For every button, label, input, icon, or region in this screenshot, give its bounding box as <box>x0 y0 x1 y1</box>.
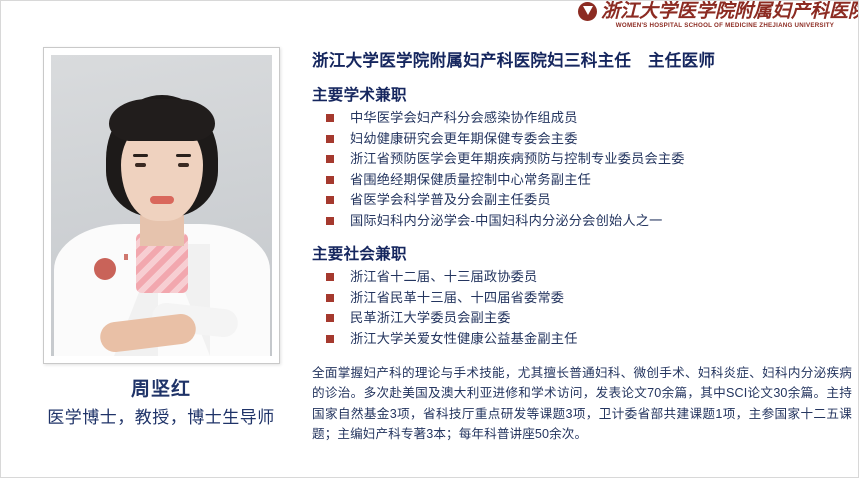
bullet-square-icon <box>326 176 334 184</box>
bullet-square-icon <box>326 135 334 143</box>
doctor-photo <box>51 55 272 356</box>
list-item-label: 国际妇科内分泌学会-中国妇科内分泌分会创始人之一 <box>350 213 663 228</box>
list-item: 省医学会科学普及分会副主任委员 <box>326 190 852 210</box>
list-item: 浙江省民革十三届、十四届省委常委 <box>326 288 852 308</box>
list-item-label: 省围绝经期保健质量控制中心常务副主任 <box>350 172 591 187</box>
bullet-square-icon <box>326 335 334 343</box>
section-heading-academic: 主要学术兼职 <box>312 83 852 105</box>
list-item: 浙江省十二届、十三届政协委员 <box>326 267 852 287</box>
logo-row: 浙江大学医学院附属妇产科医院 <box>578 2 850 21</box>
list-item-label: 浙江省预防医学会更年期疾病预防与控制专业委员会主委 <box>350 151 685 166</box>
page-title: 浙江大学医学院附属妇产科医院妇三科主任 主任医师 <box>312 51 852 72</box>
list-item-label: 中华医学会妇产科分会感染协作组成员 <box>350 110 578 125</box>
social-positions-list: 浙江省十二届、十三届政协委员 浙江省民革十三届、十四届省委常委 民革浙江大学委员… <box>312 267 852 349</box>
bullet-square-icon <box>326 314 334 322</box>
doctor-credentials: 医学博士，教授，博士生导师 <box>15 406 307 431</box>
bullet-square-icon <box>326 114 334 122</box>
profile-content: 浙江大学医学院附属妇产科医院妇三科主任 主任医师 主要学术兼职 中华医学会妇产科… <box>312 51 852 445</box>
biography-paragraph: 全面掌握妇产科的理论与手术技能，尤其擅长普通妇科、微创手术、妇科炎症、妇科内分泌… <box>312 363 852 445</box>
academic-positions-list: 中华医学会妇产科分会感染协作组成员 妇幼健康研究会更年期保健专委会主委 浙江省预… <box>312 108 852 231</box>
list-item: 浙江大学关爱女性健康公益基金副主任 <box>326 329 852 349</box>
hospital-logo: 浙江大学医学院附属妇产科医院 WOMEN'S HOSPITAL SCHOOL O… <box>578 2 850 29</box>
list-item-label: 浙江省民革十三届、十四届省委常委 <box>350 290 564 305</box>
list-item-label: 浙江省十二届、十三届政协委员 <box>350 269 537 284</box>
list-item-label: 民革浙江大学委员会副主委 <box>350 310 511 325</box>
bullet-square-icon <box>326 196 334 204</box>
bullet-square-icon <box>326 217 334 225</box>
list-item: 国际妇科内分泌学会-中国妇科内分泌分会创始人之一 <box>326 211 852 231</box>
profile-name-block: 周坚红 医学博士，教授，博士生导师 <box>15 377 307 430</box>
logo-english-name: WOMEN'S HOSPITAL SCHOOL OF MEDICINE ZHEJ… <box>600 23 850 29</box>
eyebrow-right <box>176 154 191 157</box>
list-item-label: 妇幼健康研究会更年期保健专委会主委 <box>350 131 578 146</box>
eyebrow-left <box>133 154 148 157</box>
list-item: 民革浙江大学委员会副主委 <box>326 308 852 328</box>
list-item-label: 浙江大学关爱女性健康公益基金副主任 <box>350 331 578 346</box>
doctor-name: 周坚红 <box>15 377 307 404</box>
list-item: 省围绝经期保健质量控制中心常务副主任 <box>326 170 852 190</box>
list-item-label: 省医学会科学普及分会副主任委员 <box>350 192 551 207</box>
slide-canvas: 浙江大学医学院附属妇产科医院 WOMEN'S HOSPITAL SCHOOL O… <box>0 0 859 478</box>
eye-right <box>178 163 189 167</box>
eye-left <box>135 163 146 167</box>
hospital-emblem-icon <box>94 258 116 280</box>
list-item: 中华医学会妇产科分会感染协作组成员 <box>326 108 852 128</box>
hair-fringe-shape <box>109 99 215 141</box>
section-heading-social: 主要社会兼职 <box>312 242 852 264</box>
bullet-square-icon <box>326 294 334 302</box>
hospital-shield-icon <box>578 2 597 21</box>
list-item: 妇幼健康研究会更年期保健专委会主委 <box>326 129 852 149</box>
list-item: 浙江省预防医学会更年期疾病预防与控制专业委员会主委 <box>326 149 852 169</box>
bullet-square-icon <box>326 155 334 163</box>
logo-chinese-name: 浙江大学医学院附属妇产科医院 <box>601 2 859 21</box>
doctor-photo-frame <box>43 47 280 364</box>
mouth-shape <box>150 196 174 204</box>
bullet-square-icon <box>326 273 334 281</box>
